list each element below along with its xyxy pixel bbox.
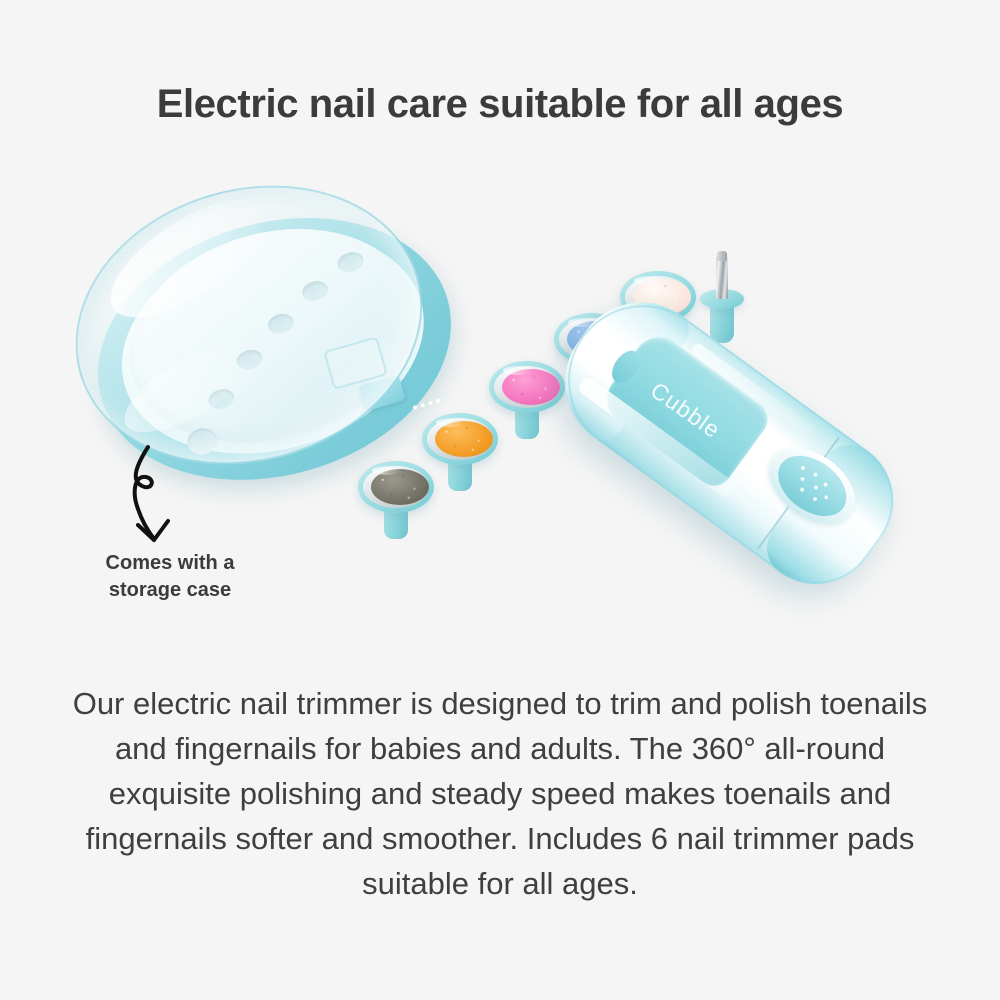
attachment-metal-tip <box>717 251 727 261</box>
page-title: Electric nail care suitable for all ages <box>0 82 1000 127</box>
storage-case-annotation: Comes with a storage case <box>40 550 300 604</box>
lid-highlight <box>93 177 284 339</box>
annotation-line-1: Comes with a <box>40 550 300 577</box>
attachment-metal-shaft <box>716 255 728 299</box>
annotation-line-2: storage case <box>40 577 300 604</box>
lid-highlight-secondary <box>112 326 270 449</box>
product-description: Our electric nail trimmer is designed to… <box>60 682 940 907</box>
attachment-head <box>422 413 498 465</box>
attachment-orange <box>422 407 498 493</box>
curly-down-arrow-icon <box>108 445 218 555</box>
product-hero-image: Comes with a storage case <box>0 155 1000 655</box>
storage-case-lid <box>42 146 455 504</box>
attachment-highlight <box>503 366 533 375</box>
attachment-highlight <box>372 466 402 475</box>
attachment-highlight <box>436 418 466 427</box>
